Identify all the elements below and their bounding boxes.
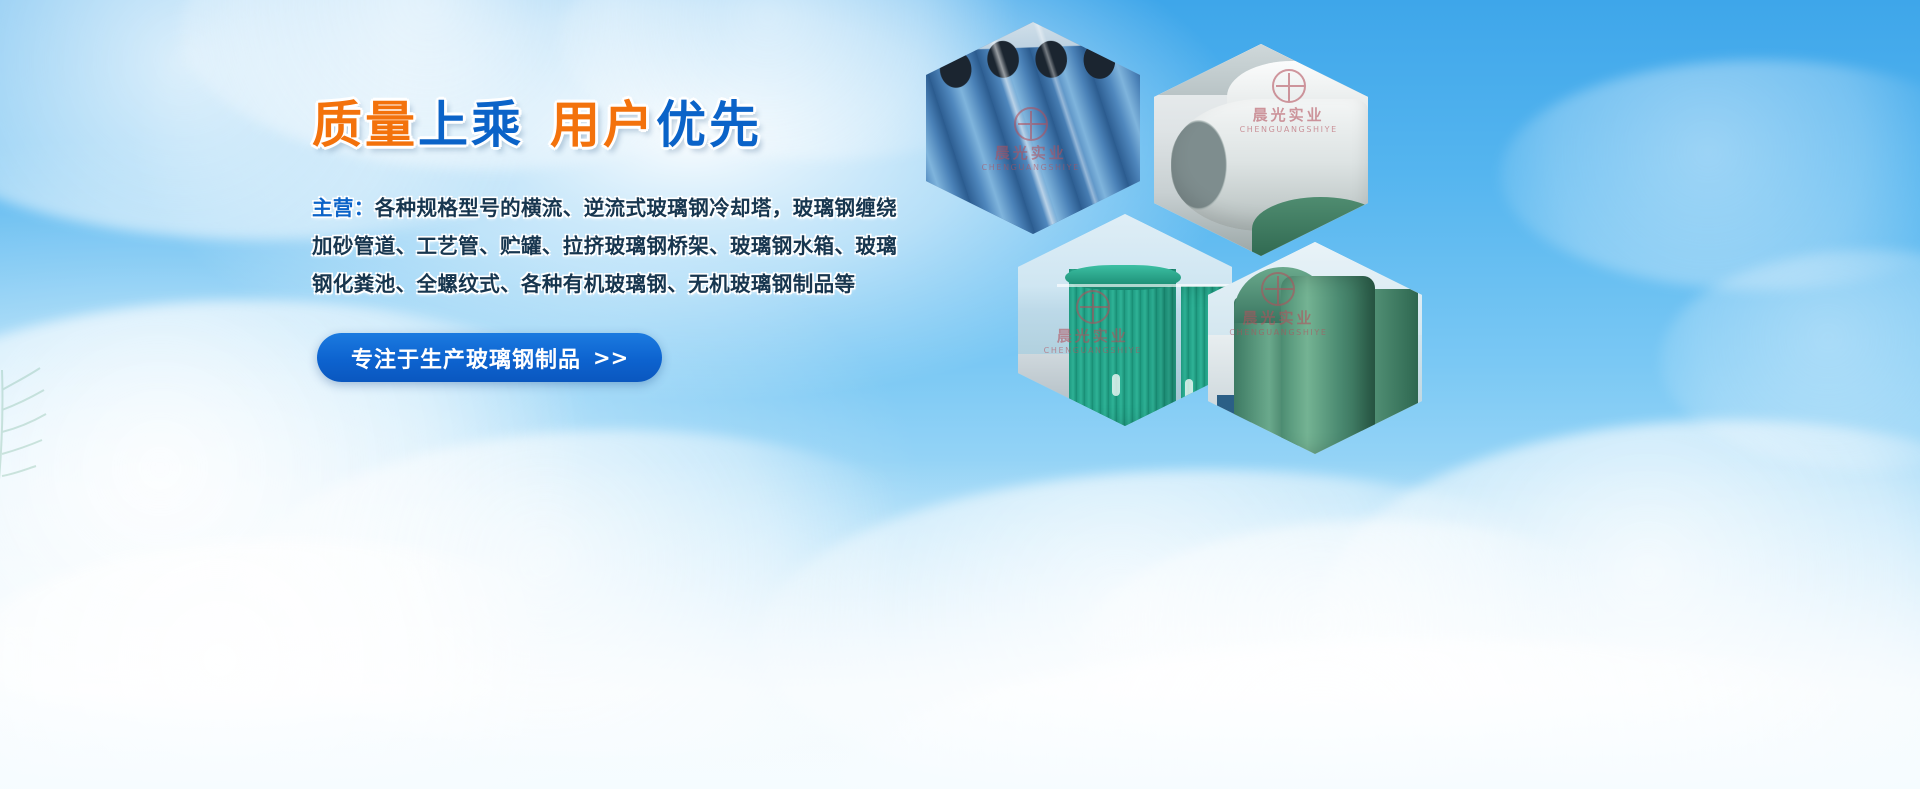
photo-green-cooling-tower (1018, 214, 1232, 426)
photo-blue-frp-pipes (926, 22, 1140, 234)
gallery-hex-green-cooling-tower[interactable]: 晨光实业 CHENGUANGSHIYE (1018, 214, 1232, 426)
description-body: 各种规格型号的横流、逆流式玻璃钢冷却塔，玻璃钢缠绕加砂管道、工艺管、贮罐、拉挤玻… (312, 196, 897, 296)
banner-copy: 质量上乘用户优先 主营：各种规格型号的横流、逆流式玻璃钢冷却塔，玻璃钢缠绕加砂管… (312, 96, 932, 382)
headline-part-2: 上乘 (418, 96, 524, 154)
headline-part-1: 质量 (312, 96, 418, 154)
page-title: 质量上乘用户优先 (312, 96, 932, 155)
banner-description: 主营：各种规格型号的横流、逆流式玻璃钢冷却塔，玻璃钢缠绕加砂管道、工艺管、贮罐、… (312, 189, 902, 303)
gallery-hex-blue-frp-pipes[interactable]: 晨光实业 CHENGUANGSHIYE (926, 22, 1140, 234)
gallery-hex-green-scrubber[interactable]: 晨光实业 CHENGUANGSHIYE (1208, 242, 1422, 454)
tower-railing (1057, 284, 1232, 287)
horizon-haze (0, 459, 1920, 789)
pipe-highlight (926, 22, 1140, 234)
description-label: 主营： (312, 196, 375, 220)
cloud-puff (1500, 60, 1920, 290)
photo-white-frp-pipes (1154, 44, 1368, 256)
focus-cta-button[interactable]: 专注于生产玻璃钢制品 >> (317, 333, 662, 382)
cloud-puff (1080, 520, 1680, 780)
hero-banner: 质量上乘用户优先 主营：各种规格型号的横流、逆流式玻璃钢冷却塔，玻璃钢缠绕加砂管… (0, 0, 1920, 789)
palm-frond-icon (0, 330, 60, 530)
headline-part-3: 用户 (550, 96, 656, 154)
cta-label: 专注于生产玻璃钢制品 (351, 342, 581, 374)
tower-nozzle (1112, 374, 1120, 396)
headline-part-4: 优先 (656, 96, 762, 154)
product-photo-cluster: 晨光实业 CHENGUANGSHIYE 晨光实业 CHENGUANGSHIYE (920, 14, 1440, 414)
cloud-puff (0, 540, 640, 789)
cloud-puff (1660, 250, 1920, 470)
cloud-puff (1320, 420, 1920, 789)
double-chevron-right-icon: >> (593, 346, 628, 370)
cloud-puff (240, 430, 1000, 760)
cloud-puff (760, 470, 1660, 789)
photo-green-scrubber (1208, 242, 1422, 454)
tower-nozzle (1185, 379, 1193, 401)
scrubber-body (1281, 276, 1375, 454)
gallery-hex-white-frp-pipes[interactable]: 晨光实业 CHENGUANGSHIYE (1154, 44, 1368, 256)
cloud-puff (840, 640, 1920, 789)
cooling-tower-primary (1069, 269, 1176, 426)
